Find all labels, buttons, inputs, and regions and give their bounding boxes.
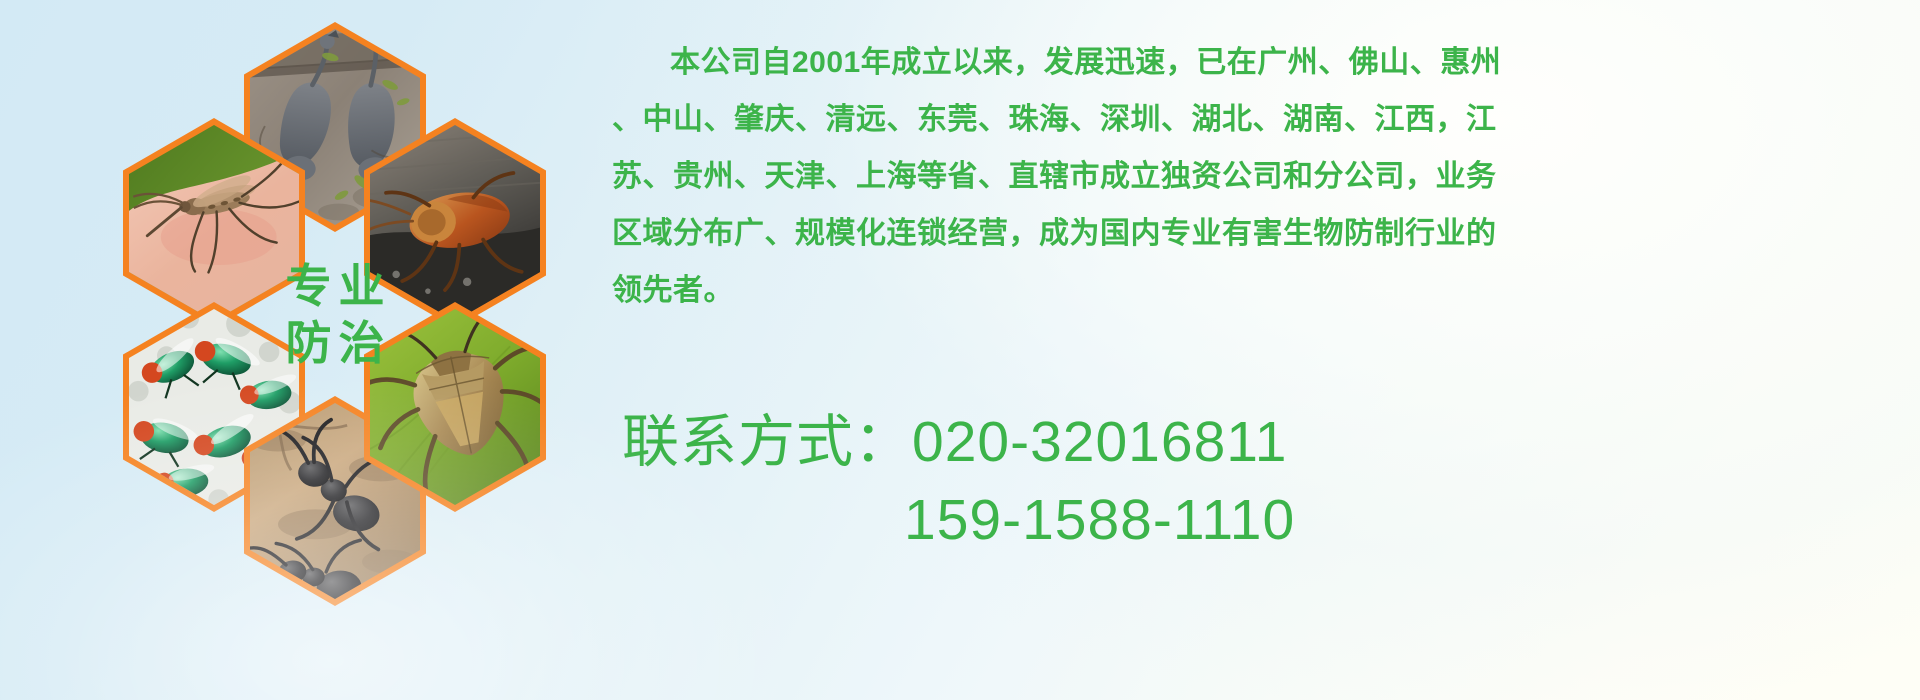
company-intro-paragraph: 本公司自2001年成立以来，发展迅速，已在广州、佛山、惠州 、中山、肇庆、清远、… [612,34,1912,319]
paragraph-line-5: 领先者。 [612,262,1912,319]
paragraph-line-2: 、中山、肇庆、清远、东莞、珠海、深圳、湖北、湖南、江西，江 [612,91,1912,148]
slogan-block: 专业 防治 [244,210,426,420]
contact-line-primary[interactable]: 联系方式：020-32016811 [622,403,1920,481]
paragraph-line-3: 苏、贵州、天津、上海等省、直辖市成立独资公司和分公司，业务 [612,148,1912,205]
pest-control-banner: 专业 防治 本公司自2001年成立以来，发展迅速，已在广州、佛山、惠州 、中山、… [0,0,1920,700]
paragraph-line-4: 区域分布广、规模化连锁经营，成为国内专业有害生物防制行业的 [612,205,1912,262]
contact-line-secondary[interactable]: 159-1588-1110 [622,481,1920,559]
paragraph-line-1: 本公司自2001年成立以来，发展迅速，已在广州、佛山、惠州 [612,34,1912,91]
contact-block: 联系方式：020-32016811 159-1588-1110 [622,403,1920,559]
slogan-line-1: 专业 [279,258,392,316]
slogan-line-2: 防治 [279,315,392,373]
honeycomb-gallery: 专业 防治 [96,0,616,580]
